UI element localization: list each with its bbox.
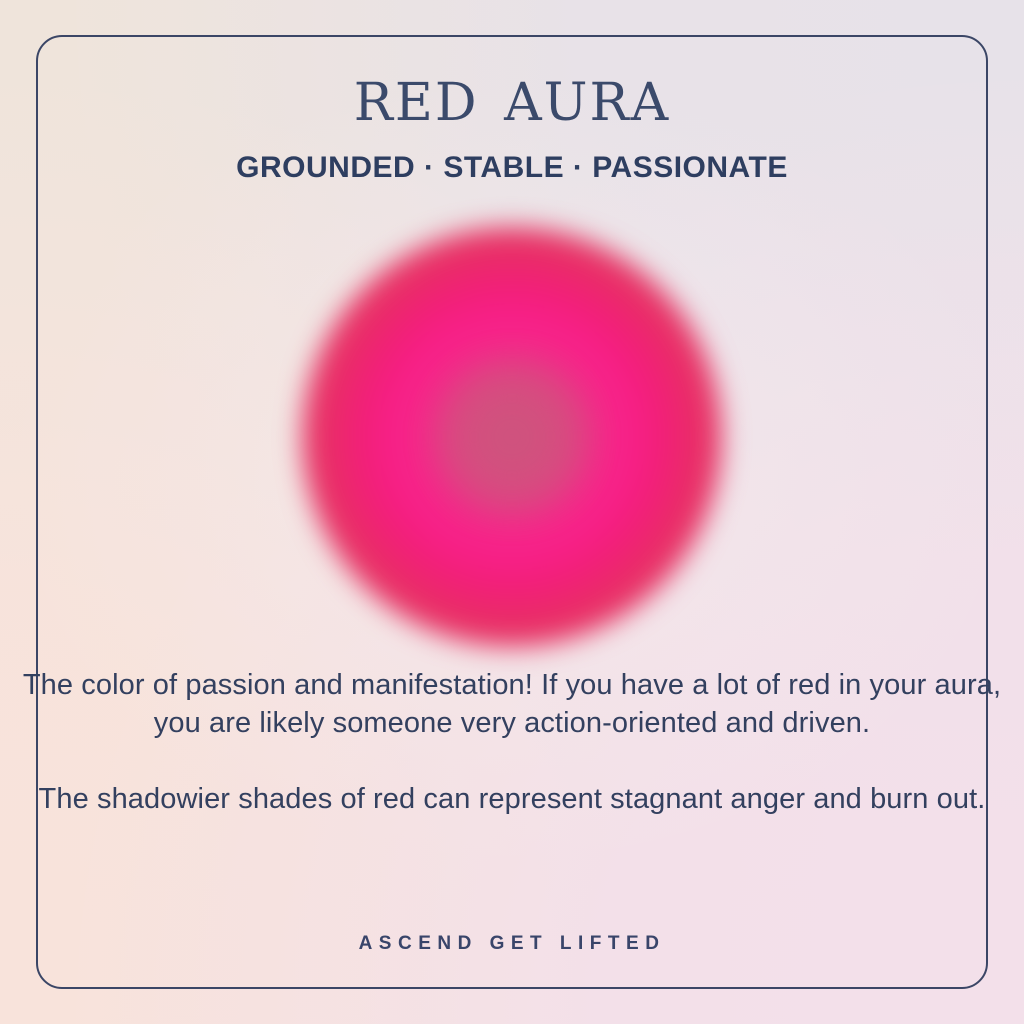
description-text: The color of passion and manifestation! … xyxy=(0,666,1024,818)
aura-orb-gradient xyxy=(302,227,722,647)
aura-orb xyxy=(302,227,722,647)
description-paragraph-2: The shadowier shades of red can represen… xyxy=(0,780,1024,818)
card-content: Red Aura GROUNDED · STABLE · PASSIONATE … xyxy=(0,0,1024,1024)
card-subtitle: GROUNDED · STABLE · PASSIONATE xyxy=(0,150,1024,186)
aura-card: Red Aura GROUNDED · STABLE · PASSIONATE … xyxy=(0,0,1024,1024)
description-paragraph-1: The color of passion and manifestation! … xyxy=(0,666,1024,742)
aura-orb-core xyxy=(437,362,587,512)
page-title: Red Aura xyxy=(0,58,1024,132)
brand-footer: ASCEND GET LIFTED xyxy=(0,933,1024,955)
